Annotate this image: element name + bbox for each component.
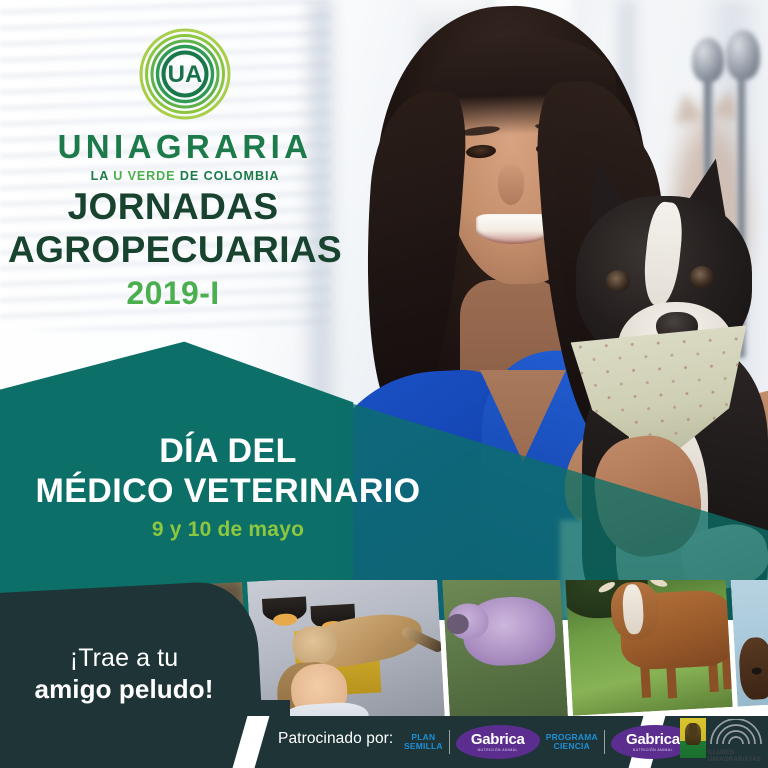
poster-root: Patrocinado por: PLAN SEMILLA Gabrica NU… <box>0 0 768 768</box>
sponsor-label: Patrocinado por: <box>278 730 393 748</box>
cta-line-2: amigo peludo! <box>4 674 244 705</box>
sponsor-logo-clubes-uniagraristas[interactable]: CLUBES UNIAGRARISTAS <box>680 718 764 766</box>
photo-child-with-cat <box>247 580 445 720</box>
gabrica-brand-name: Gabrica <box>471 732 525 747</box>
uniagraria-wordmark: UNIAGRARIA <box>40 130 330 163</box>
clubes-logo-right: CLUBES UNIAGRARISTAS <box>706 718 764 766</box>
program-line-2: SEMILLA <box>404 742 443 751</box>
cta-line-1: ¡Trae a tu <box>4 644 244 674</box>
gabrica-brand-sub: NUTRICIÓN ANIMAL <box>633 749 673 752</box>
tagline-highlight: U VERDE <box>113 169 175 183</box>
headline-year: 2019-I <box>8 276 338 311</box>
event-subject-line-2: MÉDICO VETERINARIO <box>0 472 456 510</box>
event-dates: 9 y 10 de mayo <box>0 518 456 542</box>
photo-cow-in-pasture <box>564 580 732 716</box>
tagline-suffix: DE COLOMBIA <box>175 169 279 183</box>
photo-purple-sheep <box>442 580 568 720</box>
dog-eye-left <box>606 270 630 292</box>
event-subject-line-1: DÍA DEL <box>0 432 456 470</box>
gabrica-brand-name: Gabrica <box>626 732 680 747</box>
clubes-label: CLUBES UNIAGRARISTAS <box>708 750 761 764</box>
gabrica-brand-sub: NUTRICIÓN ANIMAL <box>478 749 518 752</box>
sponsor-program-plan-semilla: PLAN SEMILLA <box>404 733 443 750</box>
event-subject: DÍA DEL MÉDICO VETERINARIO 9 y 10 de may… <box>0 432 456 542</box>
uniagraria-logo: UA UNIAGRARIA LA U VERDE DE COLOMBIA <box>40 28 330 183</box>
program-line-2: CIENCIA <box>546 742 598 751</box>
headline-line-1: JORNADAS <box>8 186 338 229</box>
vet-nose <box>498 165 524 205</box>
vet-smile <box>476 214 552 244</box>
tagline-prefix: LA <box>91 169 114 183</box>
sponsor-program-ciencia: PROGRAMA CIENCIA <box>546 733 598 750</box>
event-headline: JORNADAS AGROPECUARIAS 2019-I <box>8 186 338 311</box>
sponsor-logo-gabrica-1[interactable]: Gabrica NUTRICIÓN ANIMAL <box>456 725 540 759</box>
uniagraria-mark-icon: UA <box>139 28 231 120</box>
headline-line-2: AGROPECUARIAS <box>8 229 338 272</box>
sponsor-logo-list: PLAN SEMILLA Gabrica NUTRICIÓN ANIMAL PR… <box>404 722 695 762</box>
clubes-badge-icon <box>680 718 706 758</box>
photo-group-of-puppies <box>729 580 768 707</box>
dog-eye-right <box>690 266 714 288</box>
clubes-arcs-icon <box>708 719 764 745</box>
uniagraria-tagline: LA U VERDE DE COLOMBIA <box>40 170 330 183</box>
clubes-label-line2: UNIAGRARISTAS <box>708 757 761 764</box>
sponsor-separator-2 <box>604 730 605 754</box>
bring-pet-cta: ¡Trae a tu amigo peludo! <box>4 644 244 704</box>
sponsor-separator-1 <box>449 730 450 754</box>
uniagraria-mark-text: UA <box>168 61 203 88</box>
